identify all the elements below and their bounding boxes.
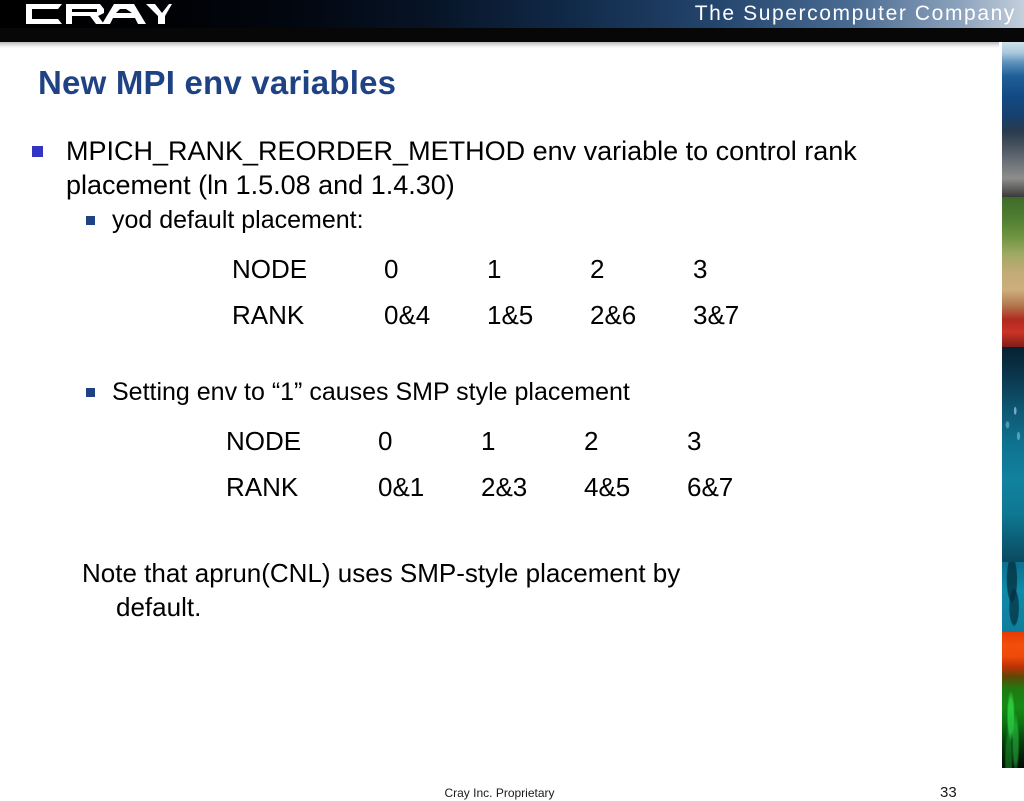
table-row: NODE 0 1 2 3: [226, 418, 790, 464]
decorative-image-strip: [999, 42, 1024, 768]
square-bullet-icon: [86, 216, 95, 225]
row-label: NODE: [226, 418, 378, 464]
strip-segment-grassland-landscape: [1002, 197, 1024, 347]
page-title: New MPI env variables: [38, 64, 396, 102]
square-bullet-icon: [32, 146, 43, 157]
table-cell: 1: [487, 246, 590, 292]
bullet-item-yod-default: yod default placement:: [86, 204, 999, 236]
note-block: Note that aprun(CNL) uses SMP-style plac…: [82, 556, 882, 624]
table-cell: 6&7: [687, 464, 790, 510]
table-row: NODE 0 1 2 3: [232, 246, 796, 292]
slide-content: MPICH_RANK_REORDER_METHOD env variable t…: [0, 134, 999, 624]
table-cell: 0: [384, 246, 487, 292]
table-cell: 0&4: [384, 292, 487, 338]
table-cell: 2&6: [590, 292, 693, 338]
footer-proprietary-text: Cray Inc. Proprietary: [0, 786, 999, 800]
header-tagline: The Supercomputer Company: [695, 1, 1016, 27]
strip-segment-teal-simulation: [1002, 562, 1024, 632]
smp-style-placement-table: NODE 0 1 2 3 RANK 0&1 2&3 4&5 6&7: [226, 418, 790, 510]
bullet-text: yod default placement:: [112, 204, 364, 236]
bullet-text: MPICH_RANK_REORDER_METHOD env variable t…: [66, 134, 896, 202]
vertical-spacer: [0, 338, 999, 376]
square-bullet-icon: [86, 388, 95, 397]
header-dark-strip: [0, 28, 1024, 42]
strip-segment-earth-from-space: [1002, 42, 1024, 197]
table-cell: 0: [378, 418, 481, 464]
row-label: RANK: [226, 464, 378, 510]
table-cell: 3: [687, 418, 790, 464]
table-cell: 4&5: [584, 464, 687, 510]
vertical-spacer: [0, 510, 999, 550]
strip-segment-combustion-simulation: [1002, 632, 1024, 768]
table-cell: 2&3: [481, 464, 584, 510]
table-cell: 1: [481, 418, 584, 464]
table-row: RANK 0&4 1&5 2&6 3&7: [232, 292, 796, 338]
page-header: The Supercomputer Company: [0, 0, 1024, 28]
slide-body: New MPI env variables MPICH_RANK_REORDER…: [0, 48, 999, 768]
row-label: RANK: [232, 292, 384, 338]
yod-default-placement-table: NODE 0 1 2 3 RANK 0&4 1&5 2&6 3&7: [232, 246, 796, 338]
row-label: NODE: [232, 246, 384, 292]
table-cell: 2: [584, 418, 687, 464]
strip-segment-ocean-simulation: [1002, 347, 1024, 562]
note-line-1: Note that aprun(CNL) uses SMP-style plac…: [82, 558, 680, 588]
bullet-item-smp-style: Setting env to “1” causes SMP style plac…: [86, 376, 999, 408]
bullet-text: Setting env to “1” causes SMP style plac…: [112, 376, 630, 408]
table-row: RANK 0&1 2&3 4&5 6&7: [226, 464, 790, 510]
note-line-2: default.: [82, 590, 882, 624]
cray-wordmark-logo: [22, 2, 172, 26]
footer-page-number: 33: [940, 784, 957, 801]
bullet-item-reorder-method: MPICH_RANK_REORDER_METHOD env variable t…: [32, 134, 999, 202]
table-cell: 2: [590, 246, 693, 292]
table-cell: 3&7: [693, 292, 796, 338]
table-cell: 1&5: [487, 292, 590, 338]
table-cell: 0&1: [378, 464, 481, 510]
table-cell: 3: [693, 246, 796, 292]
